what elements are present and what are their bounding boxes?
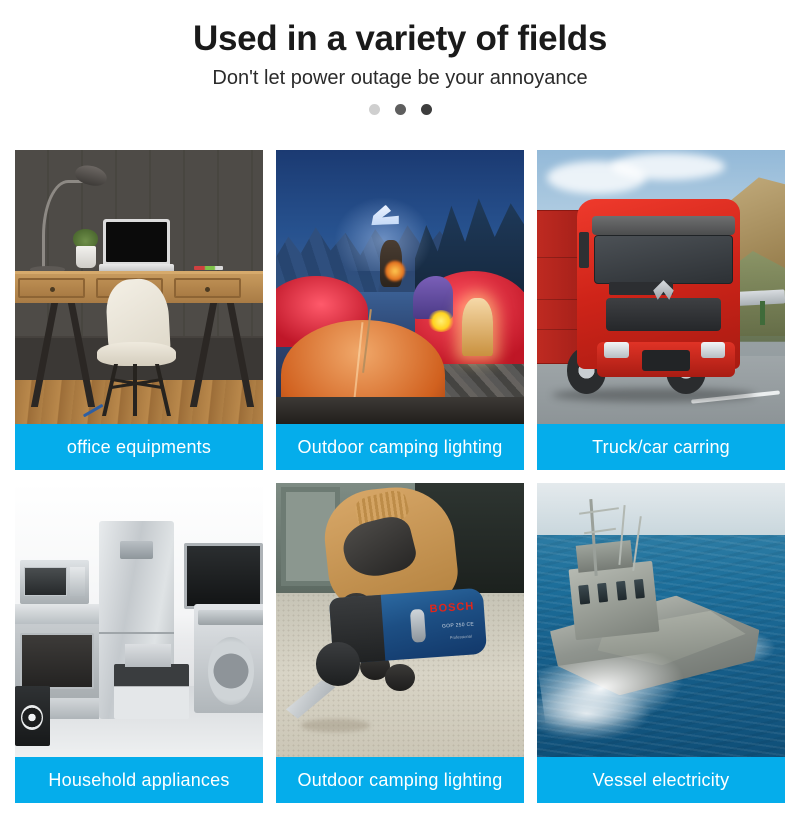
glove-finger-3 xyxy=(385,664,415,691)
laptop-lid xyxy=(103,219,170,266)
caption-office-equipments: office equipments xyxy=(15,424,263,470)
front-grille xyxy=(606,298,720,331)
desk-leg-left xyxy=(17,303,101,407)
desk-drawer-3 xyxy=(174,278,241,299)
bridge-window-3 xyxy=(615,581,626,600)
ship-superstructure xyxy=(568,561,659,641)
windshield xyxy=(594,235,733,284)
photo-office-equipments xyxy=(15,150,263,424)
card-vessel-electricity[interactable]: Vessel electricity xyxy=(537,483,785,803)
bridge-window-1 xyxy=(578,585,589,604)
plant-pot xyxy=(76,246,96,268)
guardrail-post-1 xyxy=(760,301,765,326)
chair-legs xyxy=(104,364,168,416)
fields-grid: office equipments xyxy=(15,150,785,803)
printer-paper-tray xyxy=(125,644,171,667)
headlight-left xyxy=(604,342,629,358)
caption-vessel-electricity: Vessel electricity xyxy=(537,757,785,803)
television xyxy=(184,543,263,609)
card-household-appliances[interactable]: Household appliances xyxy=(15,483,263,803)
side-mirror xyxy=(579,232,589,268)
washer-door xyxy=(208,637,254,705)
card-outdoor-camping-lighting-top[interactable]: Outdoor camping lighting xyxy=(276,150,524,470)
fridge-display-panel xyxy=(120,541,153,559)
tool-collar xyxy=(409,609,425,643)
carousel-dots[interactable] xyxy=(0,104,800,115)
tent-door-lit xyxy=(462,298,493,356)
page-header: Used in a variety of fields Don't let po… xyxy=(0,0,800,115)
caption-household-appliances: Household appliances xyxy=(15,757,263,803)
oven-door xyxy=(20,633,94,688)
sun-visor xyxy=(592,216,736,235)
campfire-glow xyxy=(385,260,405,282)
tool-model-label: GOP 250 CE xyxy=(441,621,473,629)
headlight-right xyxy=(701,342,726,358)
microwave-door xyxy=(24,567,67,596)
photo-vessel-electricity xyxy=(537,483,785,757)
card-outdoor-camping-lighting-bottom[interactable]: BOSCH GOP 250 CE Professional Outdoor ca… xyxy=(276,483,524,803)
promo-page: Used in a variety of fields Don't let po… xyxy=(0,0,800,832)
speaker-cone xyxy=(21,705,43,730)
washer-control-panel xyxy=(198,610,263,625)
carousel-dot-3[interactable] xyxy=(421,104,432,115)
washing-machine xyxy=(194,604,263,714)
glove-grip-pad xyxy=(338,513,419,584)
fridge-door-split xyxy=(99,632,173,634)
carousel-dot-1[interactable] xyxy=(369,104,380,115)
printer xyxy=(114,664,188,719)
bumper-vent xyxy=(642,350,689,371)
page-subtitle: Don't let power outage be your annoyance xyxy=(0,63,800,93)
caption-truck-car-carring: Truck/car carring xyxy=(537,424,785,470)
photo-power-tool: BOSCH GOP 250 CE Professional xyxy=(276,483,524,757)
card-office-equipments[interactable]: office equipments xyxy=(15,150,263,470)
microwave-keypad xyxy=(70,567,85,596)
sky xyxy=(537,483,785,538)
page-title: Used in a variety of fields xyxy=(0,17,800,61)
tool-head xyxy=(316,642,361,686)
microwave-oven xyxy=(20,560,89,604)
caption-outdoor-camping-lighting-bottom: Outdoor camping lighting xyxy=(276,757,524,803)
photo-outdoor-camping-lighting-top xyxy=(276,150,524,424)
card-truck-car-carring[interactable]: Truck/car carring xyxy=(537,150,785,470)
carousel-dot-2[interactable] xyxy=(395,104,406,115)
foreground-ground xyxy=(276,397,524,424)
tool-line-label: Professional xyxy=(449,633,471,640)
tent-lantern-glow xyxy=(427,310,456,332)
ship-wake-trail xyxy=(537,686,651,741)
bridge-window-4 xyxy=(634,579,645,598)
range-control-panel xyxy=(15,604,99,625)
bosch-logo: BOSCH xyxy=(429,600,474,615)
cloud-2 xyxy=(611,153,725,180)
photo-truck-car-carring xyxy=(537,150,785,424)
laptop-screen xyxy=(106,222,167,263)
speaker xyxy=(15,686,50,746)
desk-drawer-1 xyxy=(18,278,85,299)
bridge-window-2 xyxy=(597,583,608,602)
caption-outdoor-camping-lighting-top: Outdoor camping lighting xyxy=(276,424,524,470)
desk-leg-right xyxy=(176,303,260,407)
photo-household-appliances xyxy=(15,483,263,757)
